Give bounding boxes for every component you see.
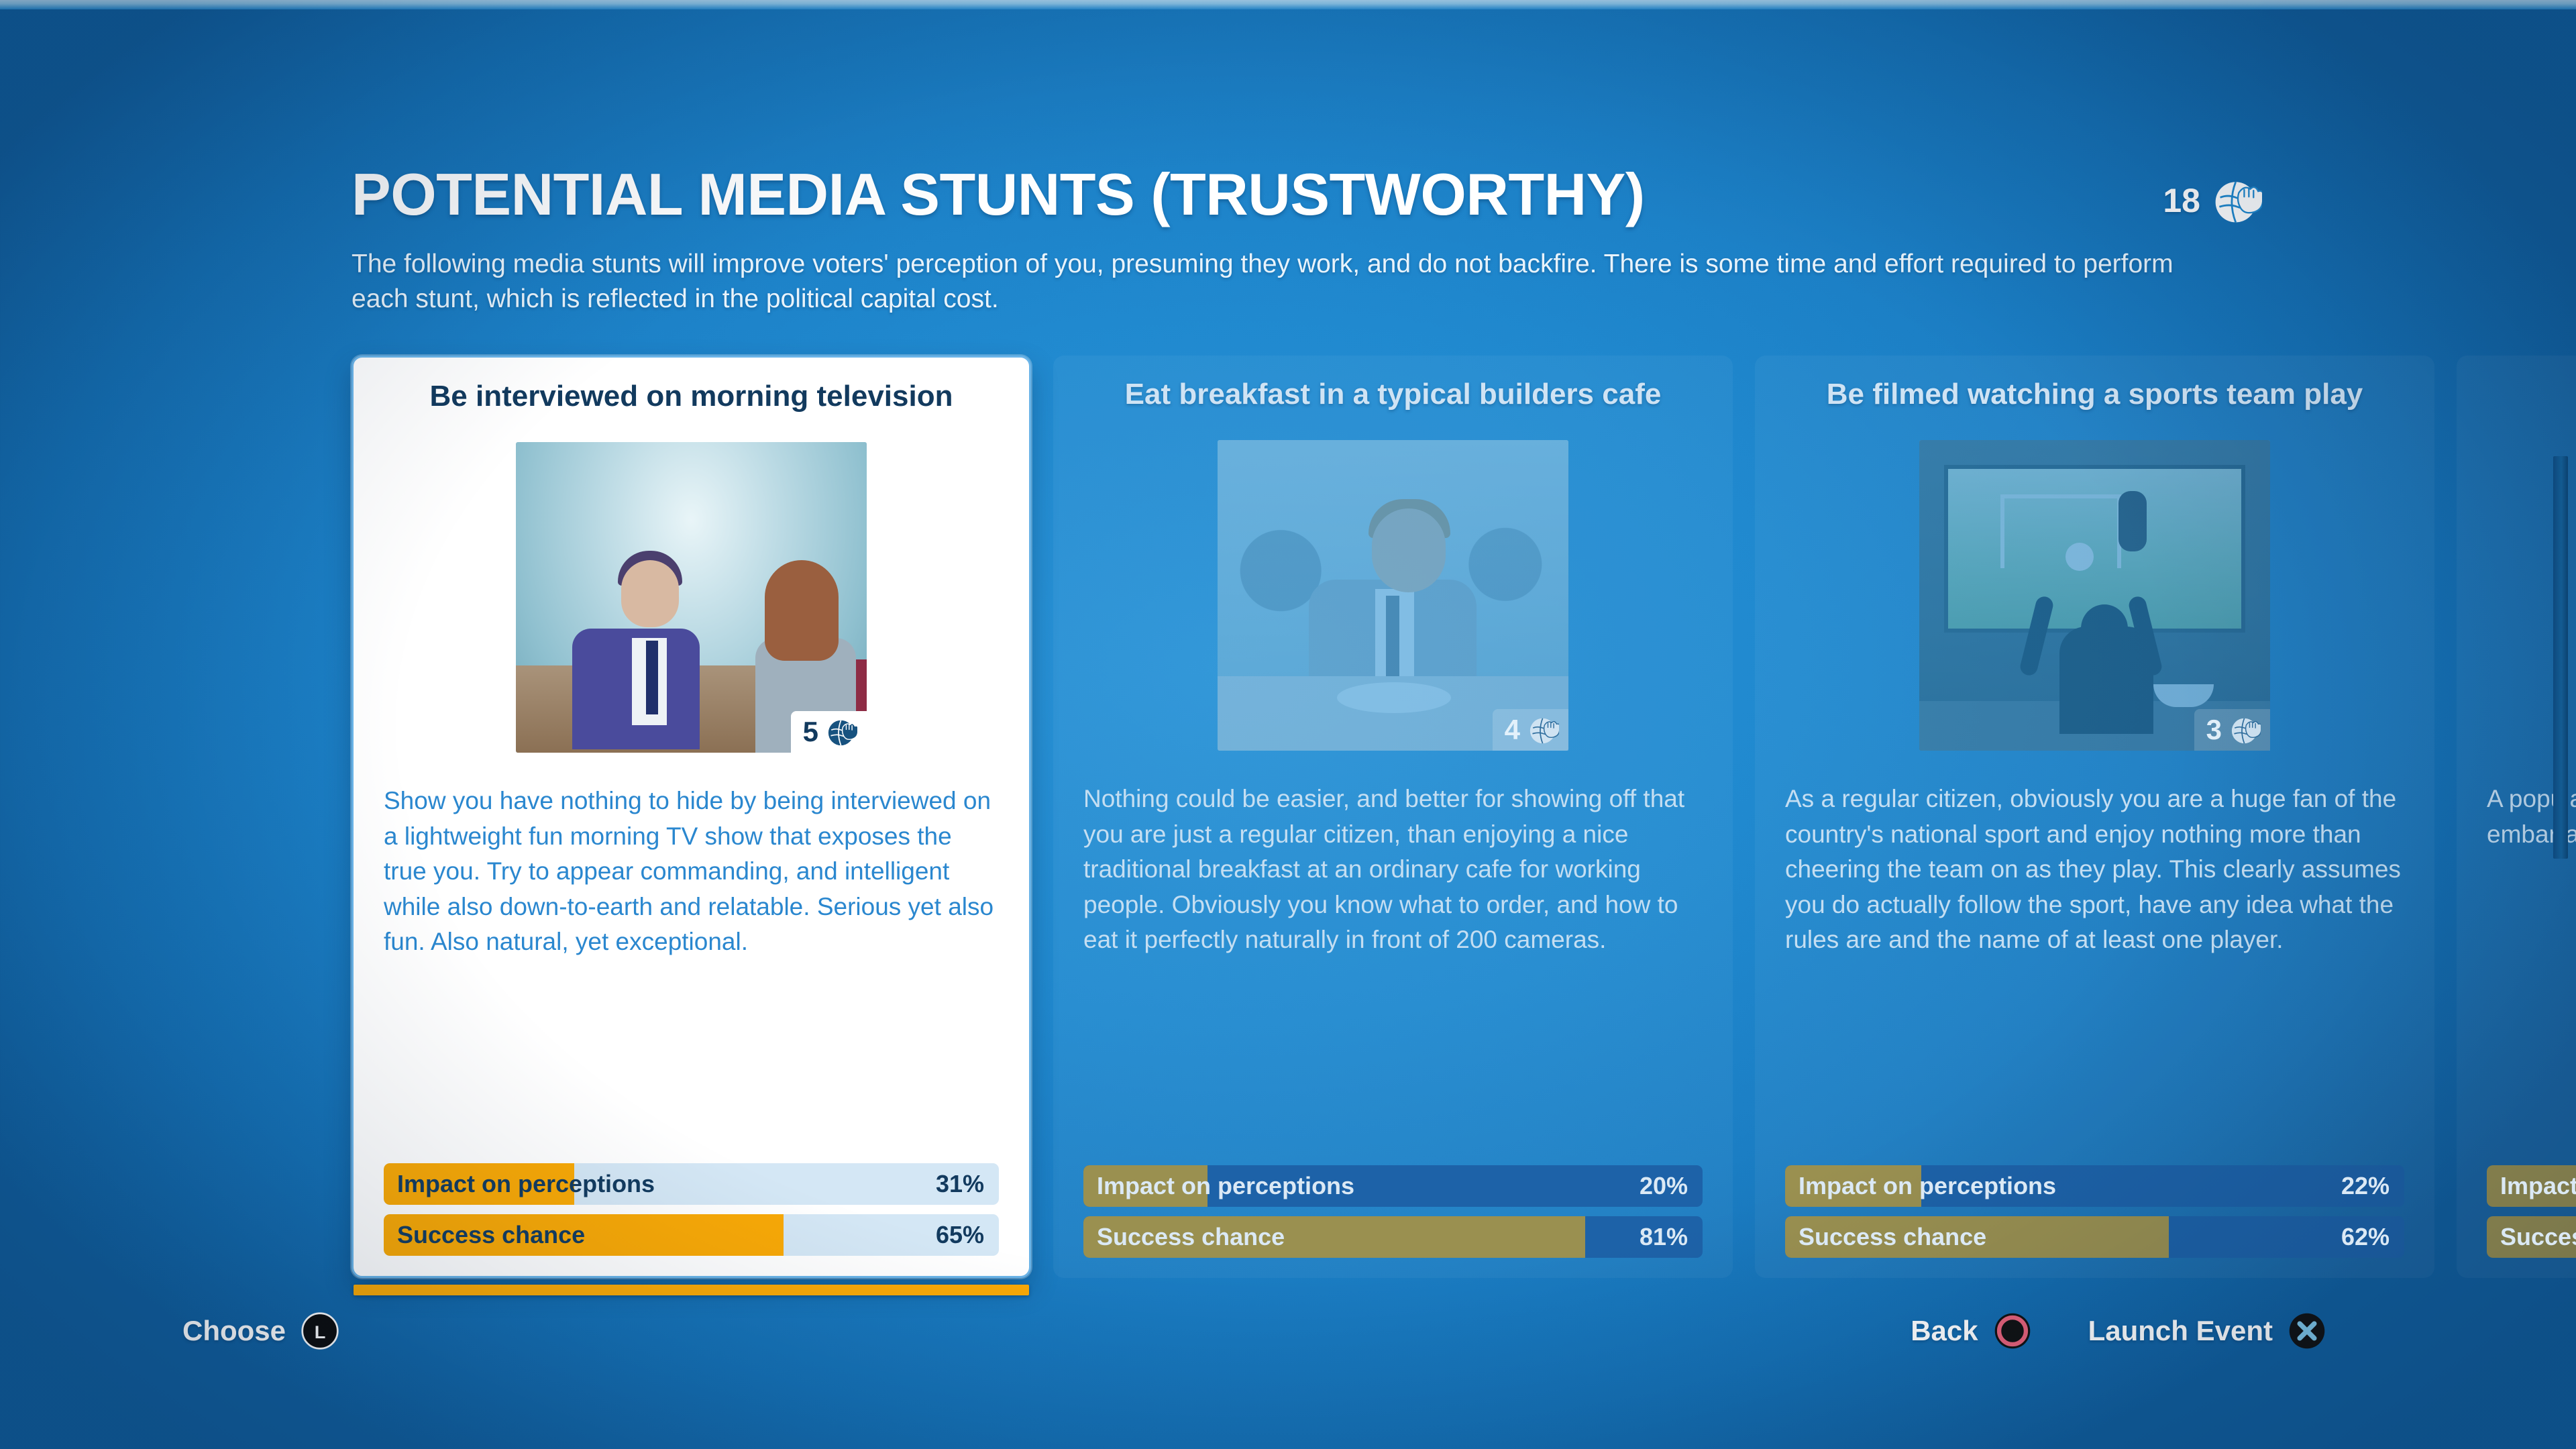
impact-stat-label: Impact on perceptions bbox=[384, 1170, 655, 1198]
impact-stat-label: Impact on perceptions bbox=[1785, 1172, 2056, 1200]
impact-stat-bar: Impact on perceptions 20% bbox=[1083, 1165, 1703, 1207]
political-capital-badge: 18 bbox=[2163, 176, 2262, 225]
political-capital-fist-globe-icon bbox=[1528, 714, 1559, 745]
political-capital-fist-globe-icon bbox=[2212, 176, 2262, 225]
success-stat-label: Success chance bbox=[1785, 1223, 1986, 1251]
impact-stat-label: Impact on perceptions bbox=[2487, 1172, 2576, 1200]
media-stunts-screen: POTENTIAL MEDIA STUNTS (TRUSTWORTHY) The… bbox=[0, 0, 2576, 1449]
stunt-title: Eat breakfast in a typical builders cafe bbox=[1083, 378, 1703, 413]
impact-stat-label: Impact on perceptions bbox=[1083, 1172, 1354, 1200]
success-stat-value: 65% bbox=[936, 1221, 999, 1249]
success-stat-bar: Success chance bbox=[2487, 1216, 2576, 1258]
back-label: Back bbox=[1911, 1315, 1978, 1347]
header: POTENTIAL MEDIA STUNTS (TRUSTWORTHY) The… bbox=[352, 165, 2230, 317]
success-stat-label: Success chance bbox=[1083, 1223, 1285, 1251]
stunt-stats: Impact on perceptions 22% Success chance… bbox=[1785, 1156, 2404, 1258]
impact-stat-value: 20% bbox=[1640, 1172, 1703, 1200]
stunt-artwork-wrapper: 3 bbox=[1919, 440, 2270, 751]
cross-button-icon[interactable] bbox=[2288, 1311, 2326, 1350]
top-edge-strip bbox=[0, 0, 2576, 9]
stunt-card-list[interactable]: Be interviewed on morning television 5 bbox=[352, 356, 2576, 1278]
horizontal-scrollbar-track[interactable] bbox=[2553, 429, 2568, 1221]
stunt-cost-chip: 5 bbox=[791, 711, 867, 753]
footer-choose-hint[interactable]: Choose L bbox=[182, 1311, 339, 1350]
selected-card-underline bbox=[354, 1285, 1029, 1295]
stunt-cost-value: 5 bbox=[803, 716, 818, 748]
stunt-artwork-wrapper: 5 bbox=[516, 442, 867, 753]
stunt-description: Show you have nothing to hide by being i… bbox=[384, 784, 999, 960]
political-capital-fist-globe-icon bbox=[2230, 714, 2261, 745]
stunt-card[interactable]: Eat breakfast in a typical builders cafe… bbox=[1053, 356, 1733, 1278]
launch-event-label: Launch Event bbox=[2088, 1315, 2273, 1347]
stunt-artwork-sports-watching bbox=[1919, 440, 2270, 751]
stunt-description: As a regular citizen, obviously you are … bbox=[1785, 782, 2404, 958]
stunt-card[interactable]: Be filmed watching a sports team play bbox=[1755, 356, 2434, 1278]
svg-text:L: L bbox=[315, 1322, 326, 1342]
scrollbar-thumb[interactable] bbox=[2553, 456, 2568, 859]
stunt-stats: Impact on perceptions 20% Success chance… bbox=[1083, 1156, 1703, 1258]
stunt-title: Appear on bbox=[2487, 378, 2576, 413]
success-stat-label: Success chance bbox=[384, 1221, 585, 1249]
stunt-stats: Impact on perceptions 31% Success chance… bbox=[384, 1154, 999, 1256]
stunt-card-selected[interactable]: Be interviewed on morning television 5 bbox=[352, 356, 1031, 1278]
political-capital-fist-globe-icon bbox=[826, 716, 857, 747]
success-stat-bar: Success chance 81% bbox=[1083, 1216, 1703, 1258]
footer-action-hints[interactable]: Back Launch Event bbox=[1911, 1311, 2326, 1350]
stunt-cost-chip: 3 bbox=[2194, 709, 2270, 751]
choose-label: Choose bbox=[182, 1315, 286, 1347]
success-stat-label: Success chance bbox=[2487, 1223, 2576, 1251]
impact-stat-bar: Impact on perceptions 31% bbox=[384, 1163, 999, 1205]
page-title: POTENTIAL MEDIA STUNTS (TRUSTWORTHY) bbox=[352, 165, 2230, 224]
page-subtitle: The following media stunts will improve … bbox=[352, 247, 2230, 317]
stunt-artwork-builders-cafe bbox=[1218, 440, 1568, 751]
success-stat-bar: Success chance 65% bbox=[384, 1214, 999, 1256]
stunt-artwork-wrapper: 4 bbox=[1218, 440, 1568, 751]
political-capital-value: 18 bbox=[2163, 181, 2200, 220]
shoulder-button-l-icon[interactable]: L bbox=[301, 1311, 339, 1350]
success-stat-value: 81% bbox=[1640, 1223, 1703, 1251]
stunt-cost-value: 3 bbox=[2206, 714, 2222, 746]
impact-stat-bar: Impact on perceptions 22% bbox=[1785, 1165, 2404, 1207]
stunt-cost-chip: 4 bbox=[1493, 709, 1568, 751]
impact-stat-value: 22% bbox=[2341, 1172, 2404, 1200]
stunt-title: Be interviewed on morning television bbox=[384, 380, 999, 415]
stunt-cost-value: 4 bbox=[1505, 714, 1520, 746]
stunt-artwork-tv-interview bbox=[516, 442, 867, 753]
circle-button-icon[interactable] bbox=[1993, 1311, 2032, 1350]
success-stat-bar: Success chance 62% bbox=[1785, 1216, 2404, 1258]
success-stat-value: 62% bbox=[2341, 1223, 2404, 1251]
stunt-title: Be filmed watching a sports team play bbox=[1785, 378, 2404, 413]
stunt-description: Nothing could be easier, and better for … bbox=[1083, 782, 1703, 958]
impact-stat-value: 31% bbox=[936, 1170, 999, 1198]
